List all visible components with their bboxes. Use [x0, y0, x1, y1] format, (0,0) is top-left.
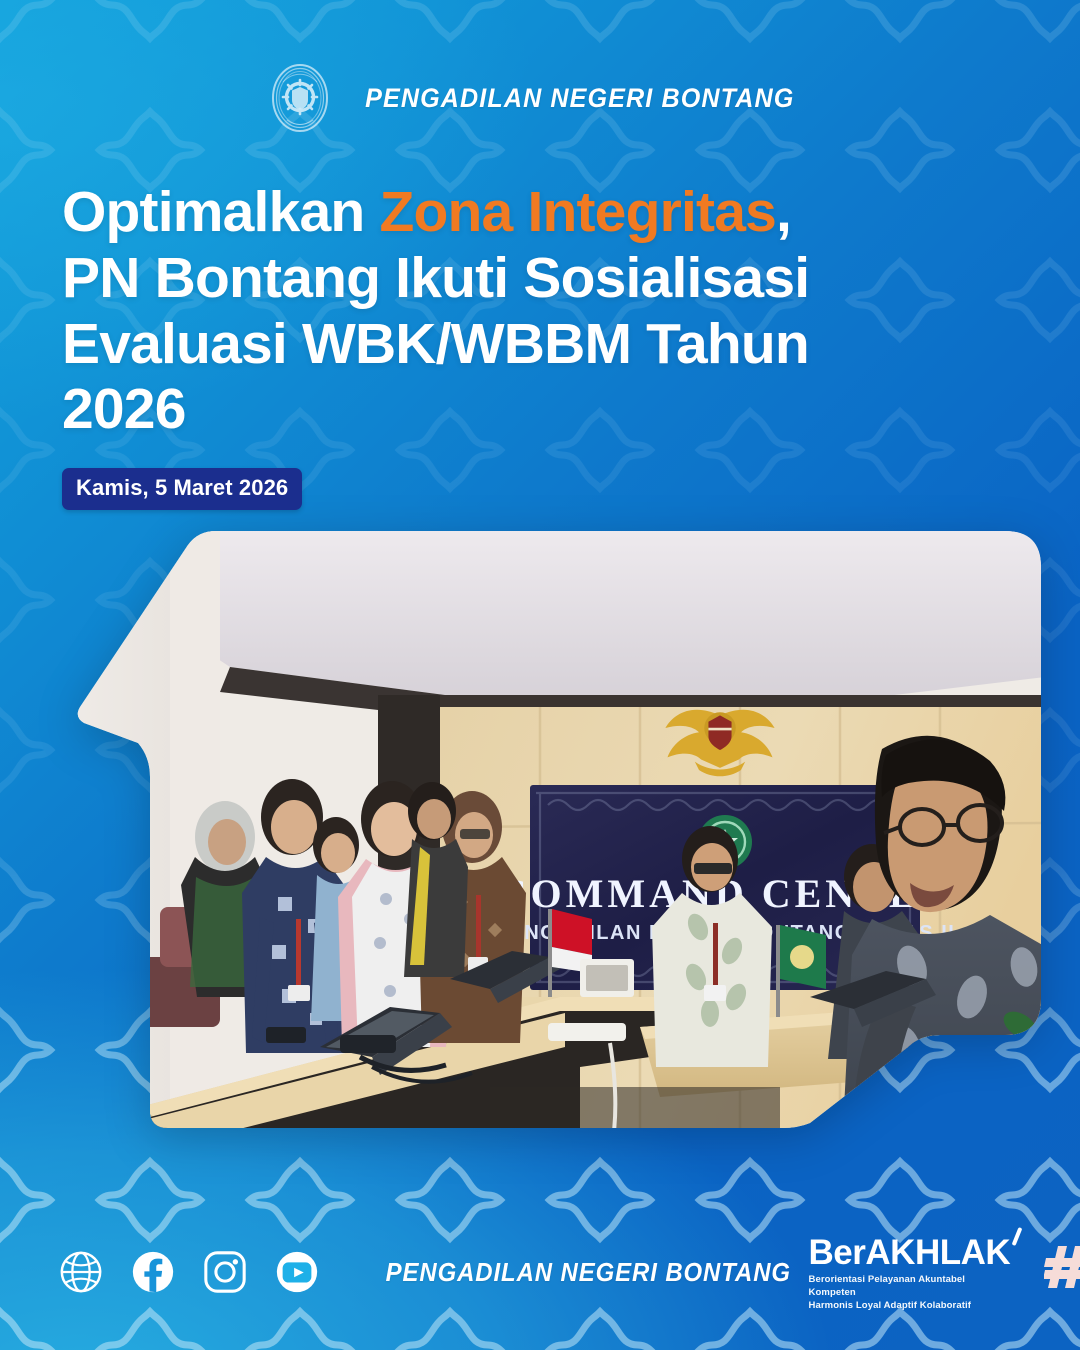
poster-canvas: PENGADILAN NEGERI BONTANG Optimalkan Zon… — [0, 0, 1080, 1350]
title-highlight: Zona Integritas — [379, 180, 776, 244]
berakhlak-values-line2: Harmonis Loyal Adaptif Kolaboratif — [809, 1300, 1011, 1313]
website-icon[interactable] — [58, 1249, 104, 1295]
instagram-icon[interactable] — [202, 1249, 248, 1295]
berakhlak-logo: BerAKHLAK Berorientasi Pelayanan Akuntab… — [809, 1231, 1011, 1312]
pengadilan-crest-icon — [269, 62, 331, 134]
date-badge: Kamis, 5 Maret 2026 — [62, 468, 302, 510]
facebook-icon[interactable] — [130, 1249, 176, 1295]
title-line1-post: , — [776, 180, 791, 244]
poster-header: PENGADILAN NEGERI BONTANG — [0, 62, 1080, 134]
event-photo: COMMAND CENTER PENGADILAN NEGERI BONTANG… — [20, 527, 1045, 1132]
header-org-name: PENGADILAN NEGERI BONTANG — [365, 83, 794, 114]
berakhlak-main: AKHLAK — [865, 1233, 1010, 1272]
page-title: Optimalkan Zona Integritas, PN Bontang I… — [62, 180, 862, 443]
event-photo-illustration: COMMAND CENTER PENGADILAN NEGERI BONTANG… — [20, 527, 1045, 1132]
berakhlak-wordmark: BerAKHLAK — [809, 1235, 1011, 1270]
poster-footer: PENGADILAN NEGERI BONTANG BerAKHLAK Bero… — [0, 1200, 1080, 1350]
berakhlak-prefix: Ber — [809, 1233, 866, 1272]
berakhlak-tick-icon — [1012, 1227, 1023, 1246]
berakhlak-values-line1: Berorientasi Pelayanan Akuntabel Kompete… — [809, 1274, 1011, 1299]
social-links — [58, 1249, 320, 1295]
berakhlak-values: Berorientasi Pelayanan Akuntabel Kompete… — [809, 1274, 1011, 1312]
title-block: Optimalkan Zona Integritas, PN Bontang I… — [62, 180, 862, 510]
program-logos: BerAKHLAK Berorientasi Pelayanan Akuntab… — [809, 1231, 1080, 1312]
hashtag-icon — [1044, 1244, 1080, 1290]
title-line1-pre: Optimalkan — [62, 180, 379, 244]
footer-org-name: PENGADILAN NEGERI BONTANG — [386, 1257, 791, 1288]
title-line2: PN Bontang Ikuti Sosialisasi — [62, 246, 809, 310]
bangga-melayani-bangsa-logo: bangga melayani bangsa — [1044, 1231, 1080, 1300]
title-line3: Evaluasi WBK/WBBM Tahun — [62, 312, 809, 376]
youtube-icon[interactable] — [274, 1249, 320, 1295]
title-line4: 2026 — [62, 377, 186, 441]
